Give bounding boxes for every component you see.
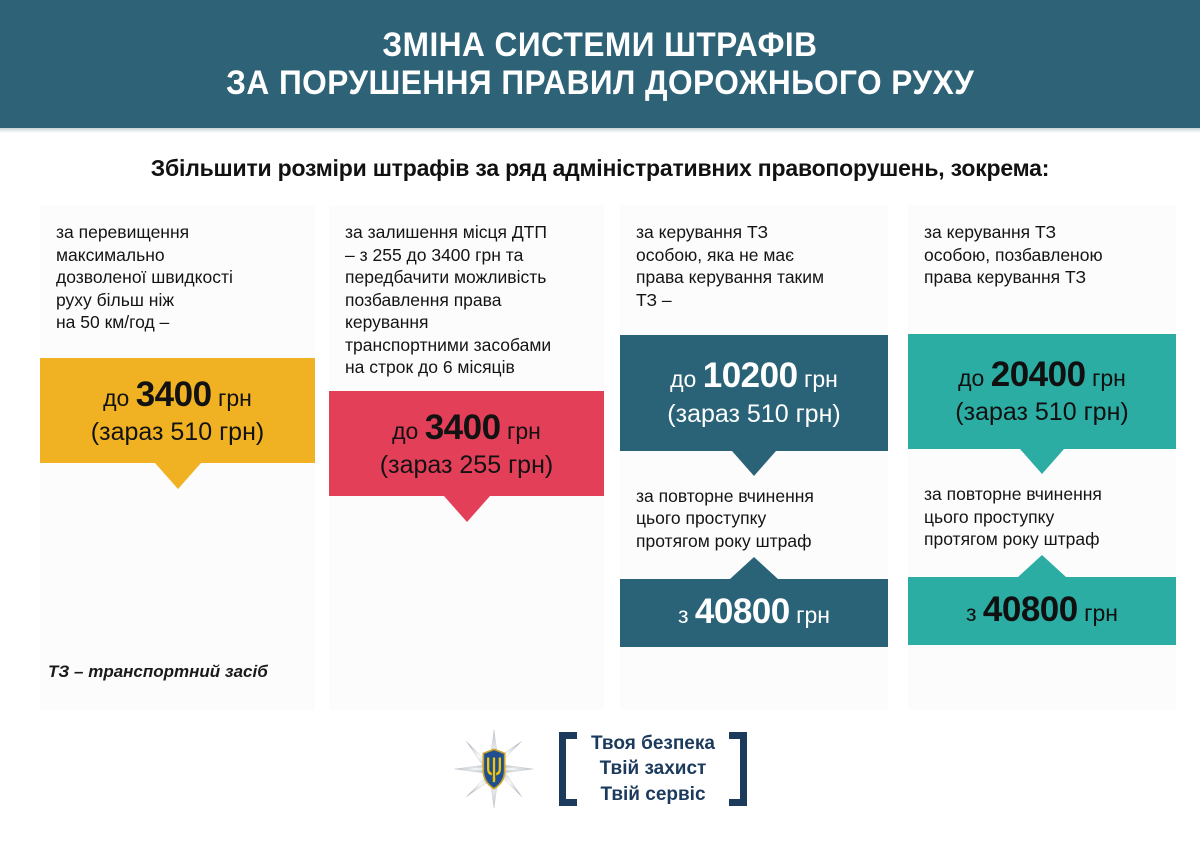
header-title-line-2: ЗА ПОРУШЕННЯ ПРАВИЛ ДОРОЖНЬОГО РУХУ bbox=[226, 64, 974, 102]
repeat-amount-wrapper: з 40800 грн bbox=[620, 579, 888, 647]
amount-unit: грн bbox=[1092, 365, 1126, 391]
repeat-unit: грн bbox=[796, 602, 830, 628]
amount-new-value: до 20400 грн bbox=[918, 354, 1166, 395]
amount-unit: грн bbox=[218, 385, 252, 411]
repeat-prefix: з bbox=[966, 600, 977, 626]
slogan-text: Твоя безпека Твій захист Твій сервіс bbox=[591, 731, 715, 806]
fine-columns-container: за перевищення максимально дозволеної шв… bbox=[0, 205, 1200, 710]
column-content: за керування ТЗ особою, яка не має права… bbox=[620, 205, 888, 311]
amount-new-value: до 3400 грн bbox=[50, 374, 305, 415]
slogan-line-3: Твій сервіс bbox=[591, 782, 715, 807]
amount-box-repeat: з 40800 грн bbox=[908, 577, 1176, 645]
amount-number: 3400 bbox=[136, 375, 212, 414]
amount-box-primary: до 20400 грн (зараз 510 грн) bbox=[908, 334, 1176, 449]
amount-prefix: до bbox=[103, 385, 129, 411]
amount-current-value: (зараз 255 грн) bbox=[339, 450, 594, 480]
header-title-line-1: ЗМІНА СИСТЕМИ ШТРАФІВ bbox=[382, 26, 817, 64]
slogan-line-2: Твій захист bbox=[591, 756, 715, 781]
repeat-number: 40800 bbox=[983, 590, 1078, 629]
column-content: за залишення місця ДТП – з 255 до 3400 г… bbox=[329, 205, 604, 379]
amount-box-primary: до 3400 грн (зараз 510 грн) bbox=[40, 358, 315, 463]
ukrainian-police-star-emblem-icon bbox=[453, 728, 535, 810]
header-divider-shadow bbox=[0, 128, 1200, 133]
amount-unit: грн bbox=[507, 418, 541, 444]
pointer-up-icon bbox=[730, 557, 778, 579]
violation-description: за керування ТЗ особою, позбавленою прав… bbox=[924, 221, 1162, 289]
violation-description: за залишення місця ДТП – з 255 до 3400 г… bbox=[345, 221, 590, 379]
fine-column-leaving-accident-scene: за залишення місця ДТП – з 255 до 3400 г… bbox=[329, 205, 604, 710]
bracket-right-icon bbox=[729, 732, 747, 806]
slogan-block: Твоя безпека Твій захист Твій сервіс bbox=[559, 731, 747, 806]
amount-new-value: до 10200 грн bbox=[630, 355, 878, 396]
repeat-unit: грн bbox=[1084, 600, 1118, 626]
footer-branding: Твоя безпека Твій захист Твій сервіс bbox=[0, 728, 1200, 810]
pointer-up-icon bbox=[1018, 555, 1066, 577]
repeat-amount-wrapper: з 40800 грн bbox=[908, 577, 1176, 645]
amount-current-value: (зараз 510 грн) bbox=[630, 399, 878, 429]
fine-column-driving-without-licence: за керування ТЗ особою, яка не має права… bbox=[620, 205, 888, 710]
amount-number: 10200 bbox=[703, 356, 798, 395]
slogan-line-1: Твоя безпека bbox=[591, 731, 715, 756]
amount-prefix: до bbox=[670, 366, 696, 392]
bracket-left-icon bbox=[559, 732, 577, 806]
amount-current-value: (зараз 510 грн) bbox=[918, 397, 1166, 427]
amount-unit: грн bbox=[804, 366, 838, 392]
amount-current-value: (зараз 510 грн) bbox=[50, 417, 305, 447]
repeat-offence-description: за повторне вчинення цього проступку про… bbox=[908, 449, 1176, 551]
fine-column-speeding: за перевищення максимально дозволеної шв… bbox=[40, 205, 315, 710]
abbreviation-footnote: ТЗ – транспортний засіб bbox=[48, 662, 268, 682]
header-banner: ЗМІНА СИСТЕМИ ШТРАФІВ ЗА ПОРУШЕННЯ ПРАВИ… bbox=[0, 0, 1200, 128]
repeat-amount-value: з 40800 грн bbox=[916, 590, 1168, 630]
amount-prefix: до bbox=[392, 418, 418, 444]
repeat-offence-description: за повторне вчинення цього проступку про… bbox=[620, 451, 888, 553]
amount-new-value: до 3400 грн bbox=[339, 407, 594, 448]
column-content: за керування ТЗ особою, позбавленою прав… bbox=[908, 205, 1176, 289]
amount-box-primary: до 10200 грн (зараз 510 грн) bbox=[620, 335, 888, 450]
amount-prefix: до bbox=[958, 365, 984, 391]
column-content: за перевищення максимально дозволеної шв… bbox=[40, 205, 315, 334]
amount-number: 20400 bbox=[991, 355, 1086, 394]
page-subtitle: Збільшити розміри штрафів за ряд адмініс… bbox=[0, 155, 1200, 182]
amount-box-primary: до 3400 грн (зараз 255 грн) bbox=[329, 391, 604, 496]
amount-box-repeat: з 40800 грн bbox=[620, 579, 888, 647]
fine-column-driving-while-disqualified: за керування ТЗ особою, позбавленою прав… bbox=[908, 205, 1176, 710]
repeat-prefix: з bbox=[678, 602, 689, 628]
repeat-number: 40800 bbox=[695, 592, 790, 631]
repeat-amount-value: з 40800 грн bbox=[628, 592, 880, 632]
violation-description: за перевищення максимально дозволеної шв… bbox=[56, 221, 301, 334]
amount-number: 3400 bbox=[425, 408, 501, 447]
violation-description: за керування ТЗ особою, яка не має права… bbox=[636, 221, 874, 311]
